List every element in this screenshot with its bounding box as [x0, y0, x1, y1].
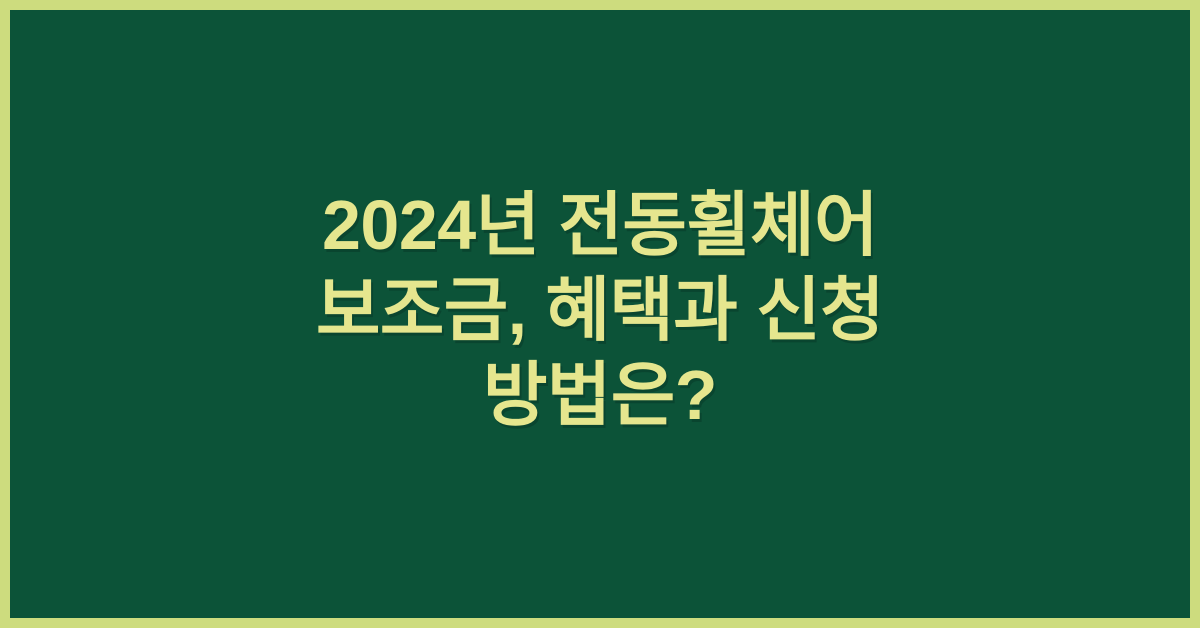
- headline-block: 2024년 전동휠체어 보조금, 혜택과 신청 방법은?: [10, 183, 1190, 438]
- headline-line-3: 방법은?: [50, 353, 1150, 438]
- thumbnail-card: 2024년 전동휠체어 보조금, 혜택과 신청 방법은?: [0, 0, 1200, 628]
- headline-line-2: 보조금, 혜택과 신청: [50, 268, 1150, 353]
- content-panel: 2024년 전동휠체어 보조금, 혜택과 신청 방법은?: [10, 10, 1190, 618]
- headline-line-1: 2024년 전동휠체어: [50, 183, 1150, 268]
